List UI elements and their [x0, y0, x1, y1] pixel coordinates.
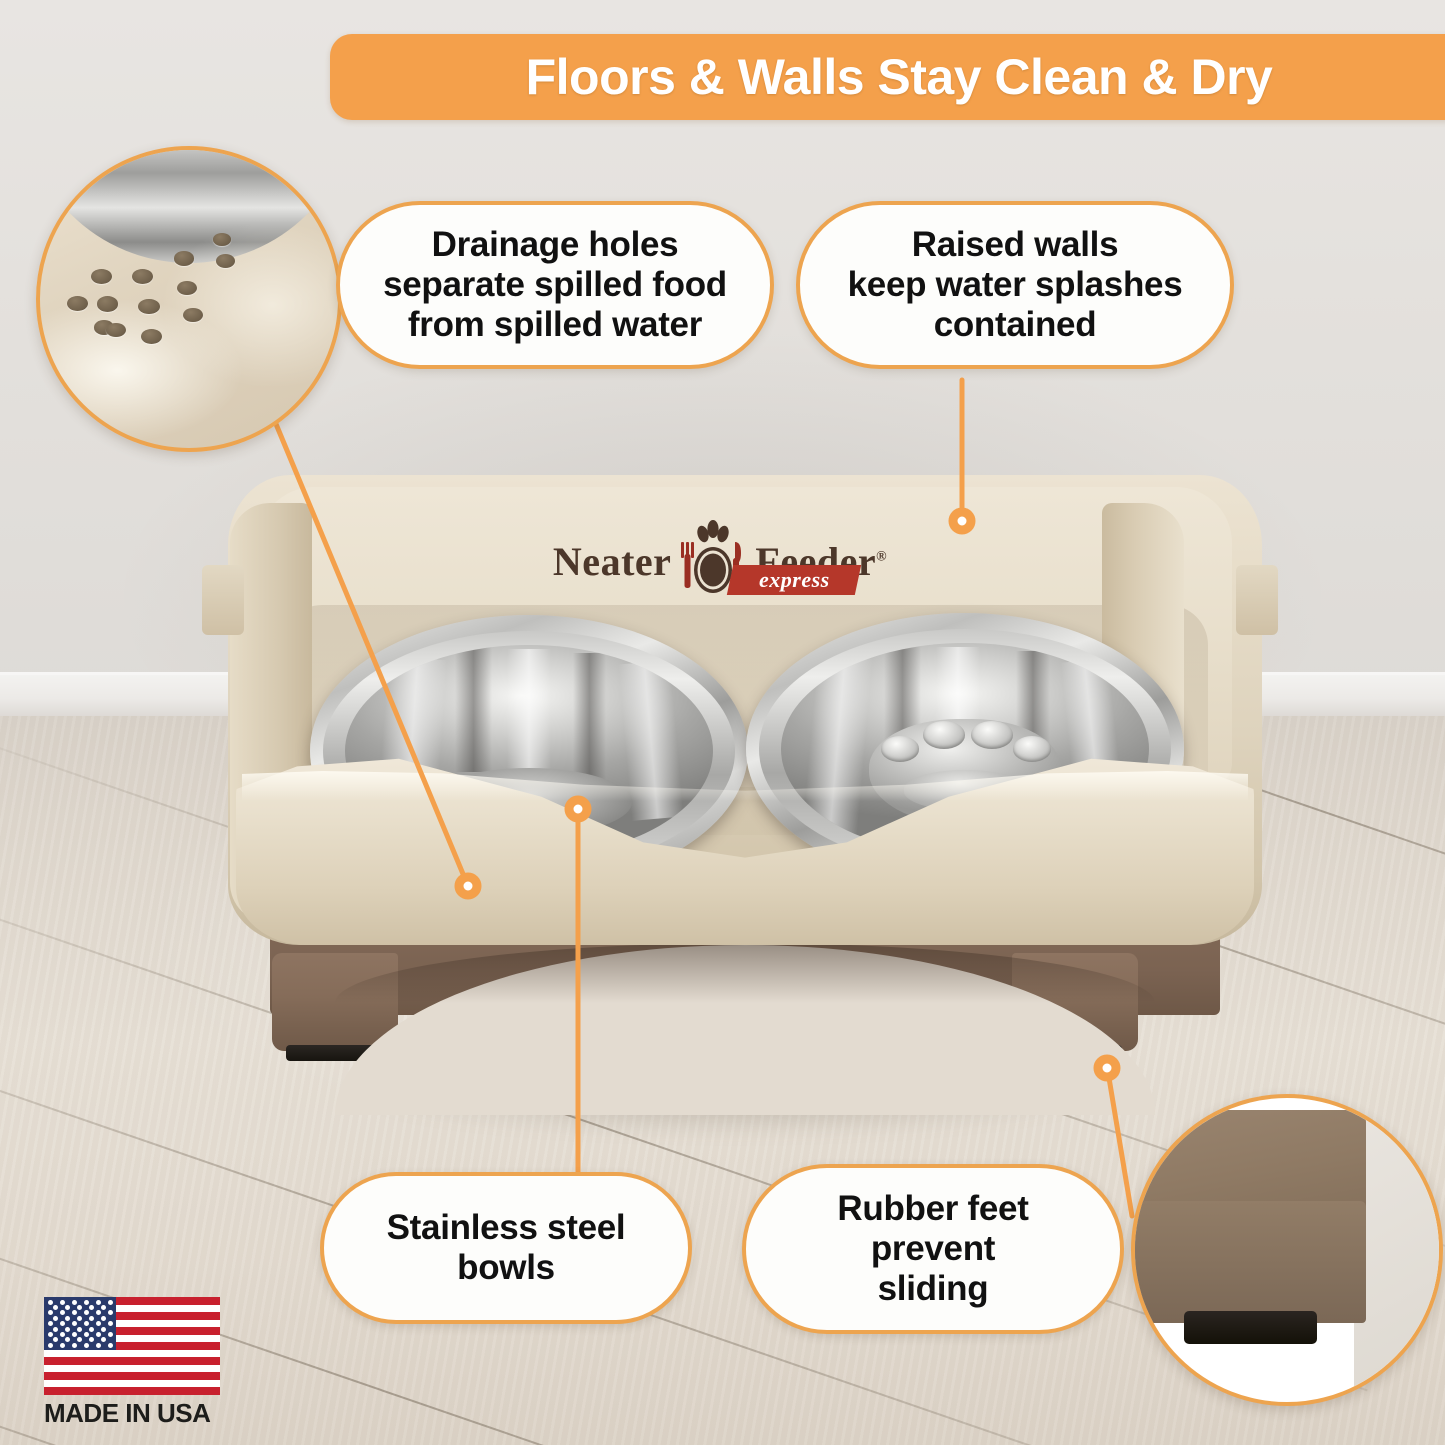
- flag-star: [108, 1343, 113, 1348]
- header-title: Floors & Walls Stay Clean & Dry: [526, 48, 1273, 106]
- flag-star: [53, 1316, 58, 1321]
- flag-star: [48, 1321, 53, 1326]
- closeup-leg-front: [1131, 1201, 1366, 1323]
- flag-star: [101, 1316, 106, 1321]
- flag-star: [60, 1310, 65, 1315]
- flag-star: [108, 1310, 113, 1315]
- drainage-holes-closeup-inset: [36, 146, 342, 452]
- flag-star: [53, 1305, 58, 1310]
- flag-star: [89, 1316, 94, 1321]
- product-logo: Neater: [520, 513, 920, 609]
- flag-canton: [44, 1297, 116, 1350]
- callout-raised-walls-text: Raised walls keep water splashes contain…: [848, 225, 1183, 345]
- flag-star: [53, 1327, 58, 1332]
- flag-star: [48, 1343, 53, 1348]
- header-banner: Floors & Walls Stay Clean & Dry: [330, 34, 1445, 120]
- flag-star: [96, 1343, 101, 1348]
- flag-star: [77, 1316, 82, 1321]
- feeder-side-tab-right: [1236, 565, 1278, 635]
- callout-rubber-feet[interactable]: Rubber feet prevent sliding: [742, 1164, 1124, 1334]
- made-in-usa-badge: MADE IN USA: [44, 1297, 220, 1429]
- flag-star: [77, 1337, 82, 1342]
- flag-star: [96, 1321, 101, 1326]
- flag-star: [72, 1332, 77, 1337]
- registered-mark: ®: [876, 549, 887, 564]
- flag-star: [84, 1332, 89, 1337]
- flag-star: [101, 1337, 106, 1342]
- flag-star: [84, 1300, 89, 1305]
- flag-star: [96, 1300, 101, 1305]
- callout-stainless-steel-bowls-text: Stainless steel bowls: [387, 1208, 626, 1288]
- flag-star: [101, 1305, 106, 1310]
- flag-star: [65, 1327, 70, 1332]
- infographic-canvas: Neater: [0, 0, 1445, 1445]
- flag-star: [72, 1310, 77, 1315]
- closeup-rubber-foot: [1184, 1311, 1318, 1344]
- flag-star: [108, 1321, 113, 1326]
- feeder-side-tab-left: [202, 565, 244, 635]
- flag-star: [60, 1300, 65, 1305]
- callout-rubber-feet-text: Rubber feet prevent sliding: [837, 1189, 1028, 1309]
- flag-star: [96, 1332, 101, 1337]
- rubber-foot-closeup-inset: [1131, 1094, 1443, 1406]
- flag-star: [84, 1321, 89, 1326]
- made-in-usa-label: MADE IN USA: [44, 1398, 220, 1429]
- flag-star: [77, 1327, 82, 1332]
- flag-star: [65, 1316, 70, 1321]
- flag-star: [53, 1337, 58, 1342]
- flag-star: [108, 1300, 113, 1305]
- flag-star: [60, 1343, 65, 1348]
- flag-star: [72, 1343, 77, 1348]
- flag-star: [84, 1310, 89, 1315]
- closeup-floor-tile: [1354, 1098, 1443, 1402]
- flag-star: [108, 1332, 113, 1337]
- flag-star: [89, 1337, 94, 1342]
- flag-star: [60, 1321, 65, 1326]
- flag-star: [84, 1343, 89, 1348]
- flag-star: [89, 1327, 94, 1332]
- flag-star: [89, 1305, 94, 1310]
- flag-star: [65, 1305, 70, 1310]
- flag-star: [48, 1310, 53, 1315]
- us-flag-icon: [44, 1297, 220, 1395]
- callout-drainage-holes-text: Drainage holes separate spilled food fro…: [383, 225, 727, 345]
- neater-feeder-express-product: Neater: [190, 455, 1300, 1075]
- logo-express-text: express: [759, 567, 830, 593]
- flag-star: [48, 1332, 53, 1337]
- callout-drainage-holes[interactable]: Drainage holes separate spilled food fro…: [336, 201, 774, 369]
- flag-star: [72, 1300, 77, 1305]
- logo-word-neater: Neater: [553, 538, 671, 585]
- flag-star: [65, 1337, 70, 1342]
- flag-star: [48, 1300, 53, 1305]
- flag-star: [96, 1310, 101, 1315]
- flag-star: [101, 1327, 106, 1332]
- flag-star: [72, 1321, 77, 1326]
- logo-express-banner: express: [727, 565, 861, 595]
- flag-star: [77, 1305, 82, 1310]
- callout-stainless-steel-bowls[interactable]: Stainless steel bowls: [320, 1172, 692, 1324]
- flag-star: [60, 1332, 65, 1337]
- callout-raised-walls[interactable]: Raised walls keep water splashes contain…: [796, 201, 1234, 369]
